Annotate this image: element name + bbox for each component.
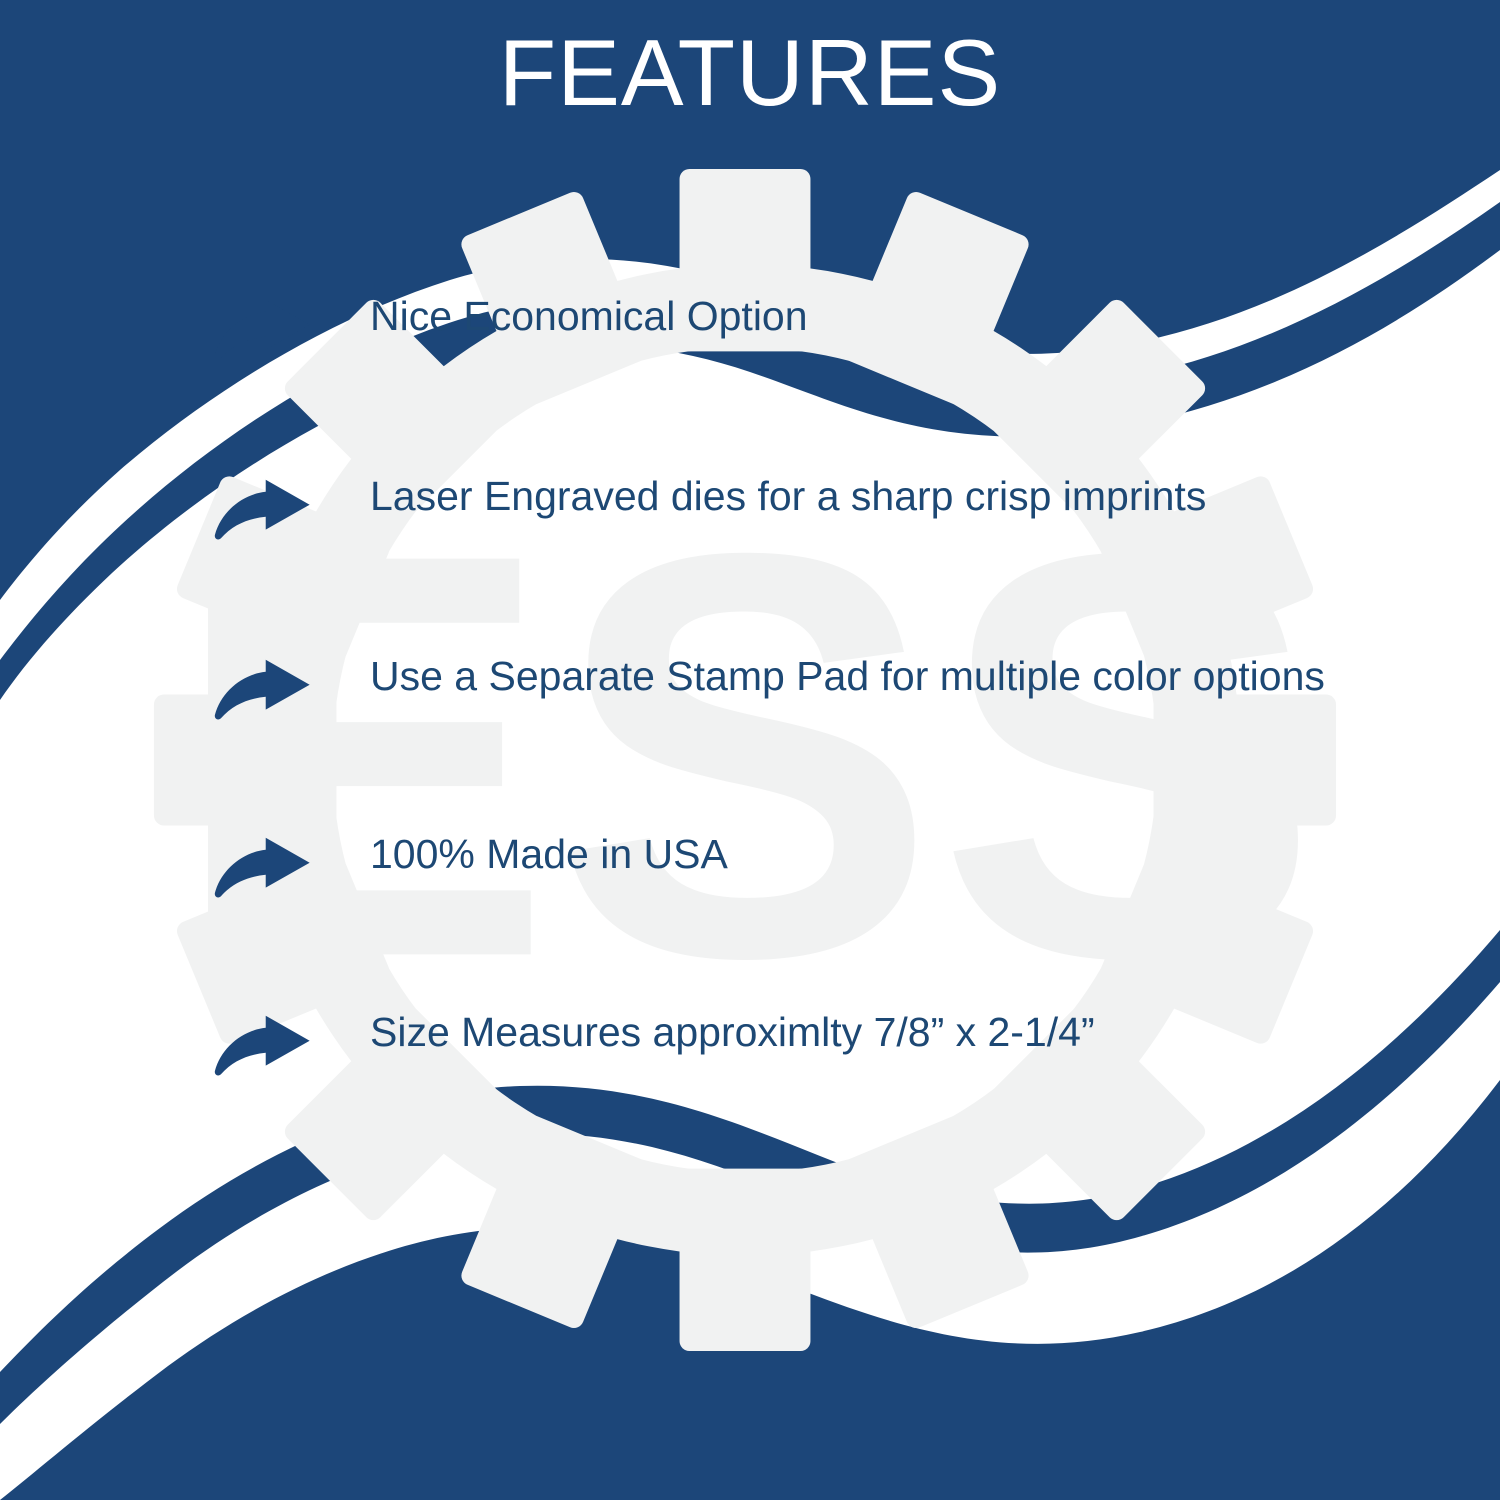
list-item: Nice Economical Option <box>0 290 1500 360</box>
list-item-label: Use a Separate Stamp Pad for multiple co… <box>370 650 1325 702</box>
list-item: Laser Engraved dies for a sharp crisp im… <box>0 470 1500 540</box>
bottom-navy-wave <box>0 1080 1500 1500</box>
banner-header: FEATURES <box>0 0 1500 140</box>
curved-arrow-right-icon <box>212 1014 316 1076</box>
list-item-label: Size Measures approximlty 7/8” x 2-1/4” <box>370 1006 1095 1058</box>
curved-arrow-right-icon <box>212 478 316 540</box>
list-item: Size Measures approximlty 7/8” x 2-1/4” <box>0 1006 1500 1076</box>
list-item-label: Nice Economical Option <box>370 290 808 342</box>
curved-arrow-right-icon <box>212 658 316 720</box>
features-banner: ESS FEATURES Nice Economical Option Lase… <box>0 0 1500 1500</box>
curved-arrow-right-icon <box>212 298 316 360</box>
page-title: FEATURES <box>499 0 1001 120</box>
list-item: Use a Separate Stamp Pad for multiple co… <box>0 650 1500 720</box>
curved-arrow-right-icon <box>212 836 316 898</box>
list-item-label: 100% Made in USA <box>370 828 728 880</box>
list-item-label: Laser Engraved dies for a sharp crisp im… <box>370 470 1206 522</box>
list-item: 100% Made in USA <box>0 828 1500 898</box>
feature-list: Nice Economical Option Laser Engraved di… <box>0 290 1500 1076</box>
